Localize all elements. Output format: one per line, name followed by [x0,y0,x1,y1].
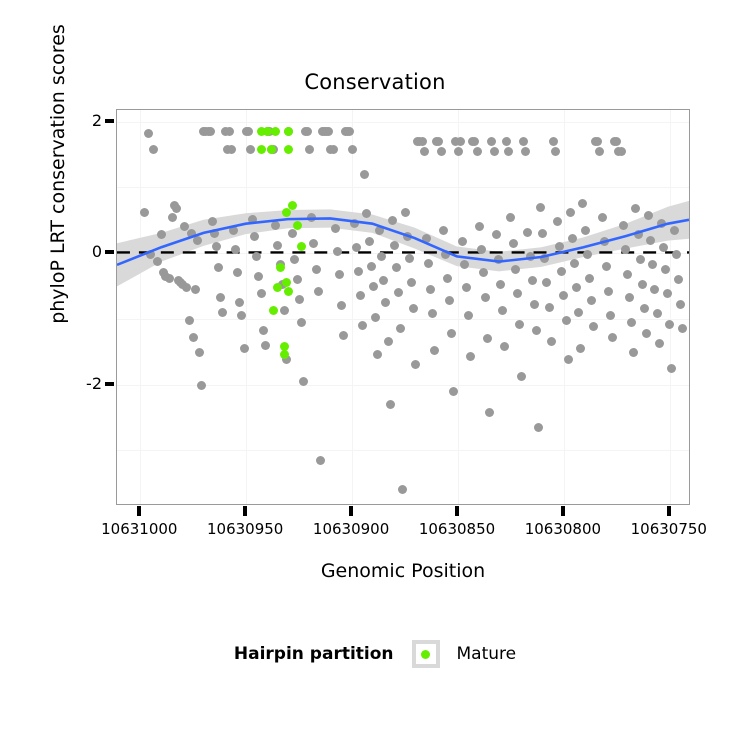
x-tick-label: 10630750 [609,520,729,538]
y-tick-label: -2 [78,374,102,393]
legend-dot-icon [421,650,430,659]
x-tick-mark [349,506,353,516]
y-tick-mark [105,382,114,386]
x-tick-mark [561,506,565,516]
x-tick-mark [667,506,671,516]
legend-label-mature: Mature [457,644,517,664]
chart-root: Conservation phyloP LRT conservation sco… [0,0,750,750]
x-axis: 1063100010630950106309001063085010630800… [116,506,690,546]
y-tick-mark [105,119,114,123]
plot-area [117,110,689,504]
loess-smooth-line [117,110,689,504]
x-tick-label: 10630950 [185,520,305,538]
legend: Hairpin partition Mature [0,640,750,668]
x-tick-label: 10631000 [79,520,199,538]
x-tick-label: 10630900 [291,520,411,538]
x-tick-mark [137,506,141,516]
legend-key-mature[interactable] [412,640,440,668]
y-tick-label: 0 [78,242,102,261]
y-axis-title: phyloP LRT conservation scores [47,0,69,374]
x-tick-label: 10630800 [503,520,623,538]
legend-key-inner [416,644,436,664]
x-tick-mark [455,506,459,516]
y-tick-mark [105,250,114,254]
x-tick-mark [243,506,247,516]
legend-title: Hairpin partition [234,644,394,664]
chart-title: Conservation [0,70,750,94]
x-axis-title: Genomic Position [116,560,690,582]
plot-panel [116,109,690,505]
y-tick-label: 2 [78,111,102,130]
x-tick-label: 10630850 [397,520,517,538]
